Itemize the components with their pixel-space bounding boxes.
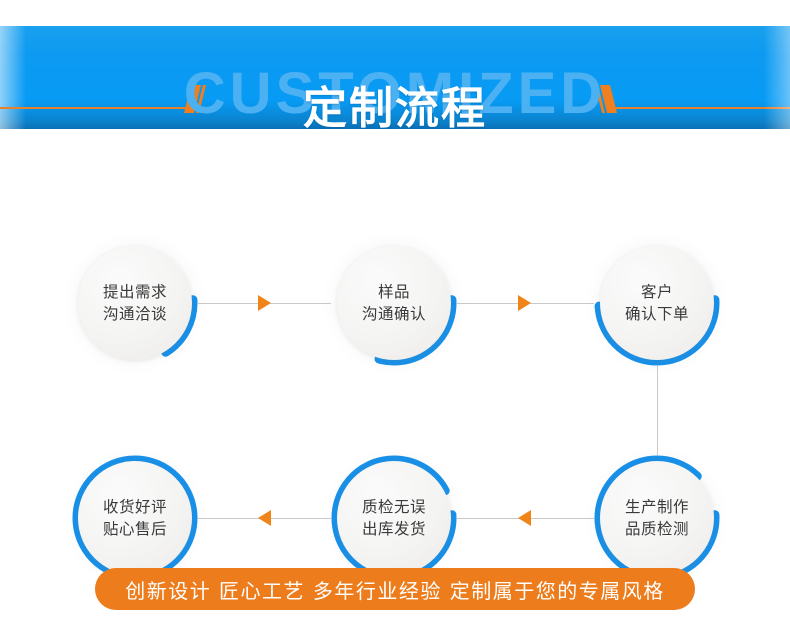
- process-step-3[interactable]: 客户 确认下单: [594, 240, 720, 366]
- arrow-left-icon: [518, 510, 531, 526]
- process-step-4-label: 生产制作 品质检测: [594, 455, 720, 581]
- step-line-2: 出库发货: [362, 518, 426, 540]
- step-line-1: 样品: [378, 281, 410, 303]
- process-step-5-label: 质检无误 出库发货: [331, 455, 457, 581]
- page-header-banner: CUSTOMIZED 定制流程: [0, 26, 790, 129]
- step-line-2: 确认下单: [625, 303, 689, 325]
- arrow-right-icon: [258, 295, 271, 311]
- process-step-6-label: 收货好评 贴心售后: [72, 455, 198, 581]
- footer-slogan-text: 创新设计 匠心工艺 多年行业经验 定制属于您的专属风格: [125, 575, 665, 604]
- step-line-1: 提出需求: [103, 281, 167, 303]
- step-line-1: 客户: [641, 281, 673, 303]
- process-step-5[interactable]: 质检无误 出库发货: [331, 455, 457, 581]
- arrow-left-icon: [258, 510, 271, 526]
- step-line-2: 品质检测: [625, 518, 689, 540]
- step-line-1: 质检无误: [362, 496, 426, 518]
- process-step-1[interactable]: 提出需求 沟通洽谈: [72, 240, 198, 366]
- footer-slogan-banner: 创新设计 匠心工艺 多年行业经验 定制属于您的专属风格: [95, 568, 695, 610]
- page-title: 定制流程: [0, 72, 790, 129]
- customization-process-page: CUSTOMIZED 定制流程 提出需求 沟通洽谈: [0, 0, 790, 640]
- arrow-right-icon: [518, 295, 531, 311]
- process-step-1-label: 提出需求 沟通洽谈: [72, 240, 198, 366]
- process-step-6[interactable]: 收货好评 贴心售后: [72, 455, 198, 581]
- process-flow-diagram: 提出需求 沟通洽谈 样品 沟通确认 客户 确认下单: [0, 129, 790, 559]
- step-line-2: 沟通洽谈: [103, 303, 167, 325]
- process-step-2[interactable]: 样品 沟通确认: [331, 240, 457, 366]
- process-step-4[interactable]: 生产制作 品质检测: [594, 455, 720, 581]
- process-step-3-label: 客户 确认下单: [594, 240, 720, 366]
- step-line-1: 收货好评: [103, 496, 167, 518]
- step-line-2: 贴心售后: [103, 518, 167, 540]
- process-step-2-label: 样品 沟通确认: [331, 240, 457, 366]
- connector-step3-step4: [657, 366, 658, 455]
- step-line-1: 生产制作: [625, 496, 689, 518]
- step-line-2: 沟通确认: [362, 303, 426, 325]
